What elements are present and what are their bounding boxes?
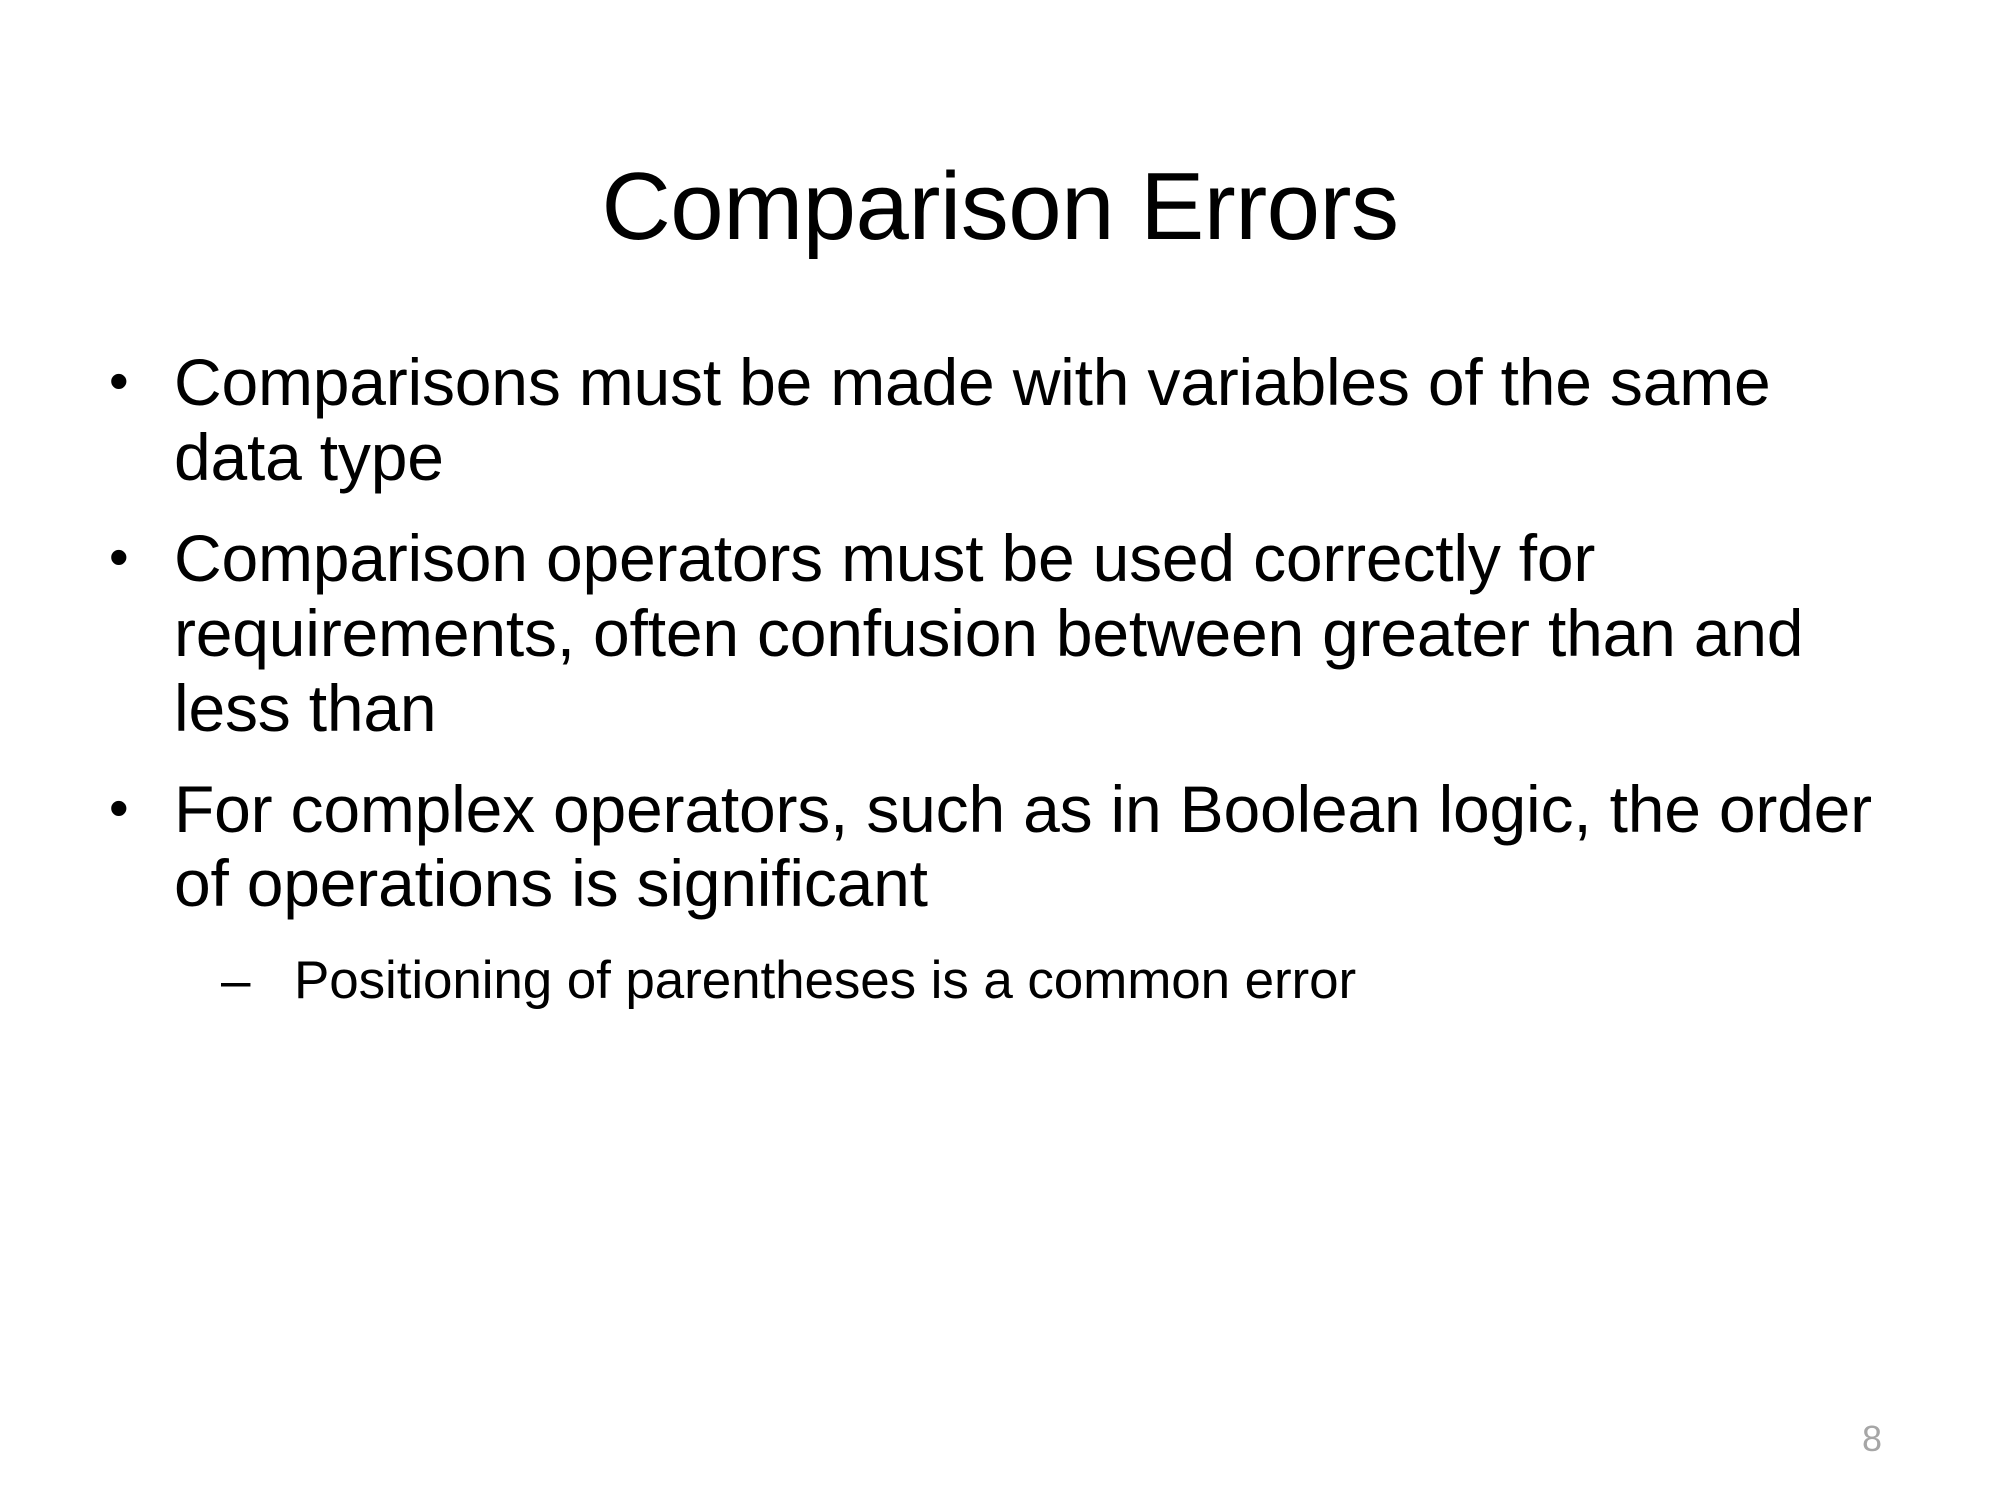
slide-body-content: • Comparisons must be made with variable… [96,345,1906,1012]
bullet-disc-icon: • [109,345,159,416]
sub-bullet-text: Positioning of parentheses is a common e… [294,951,1906,1011]
bullet-text: For complex operators, such as in Boolea… [174,772,1906,922]
bullet-text: Comparison operators must be used correc… [174,521,1906,746]
sub-bullet-item: – Positioning of parentheses is a common… [96,951,1906,1011]
bullet-item: • Comparisons must be made with variable… [96,345,1906,495]
bullet-disc-icon: • [109,521,159,592]
slide-page-number: 8 [1862,1421,1882,1457]
bullet-item: • For complex operators, such as in Bool… [96,772,1906,922]
bullet-item: • Comparison operators must be used corr… [96,521,1906,746]
bullet-dash-icon: – [221,951,281,1011]
slide-title: Comparison Errors [0,156,2000,258]
bullet-text: Comparisons must be made with variables … [174,345,1906,495]
bullet-disc-icon: • [109,772,159,843]
presentation-slide: Comparison Errors • Comparisons must be … [0,0,2000,1500]
